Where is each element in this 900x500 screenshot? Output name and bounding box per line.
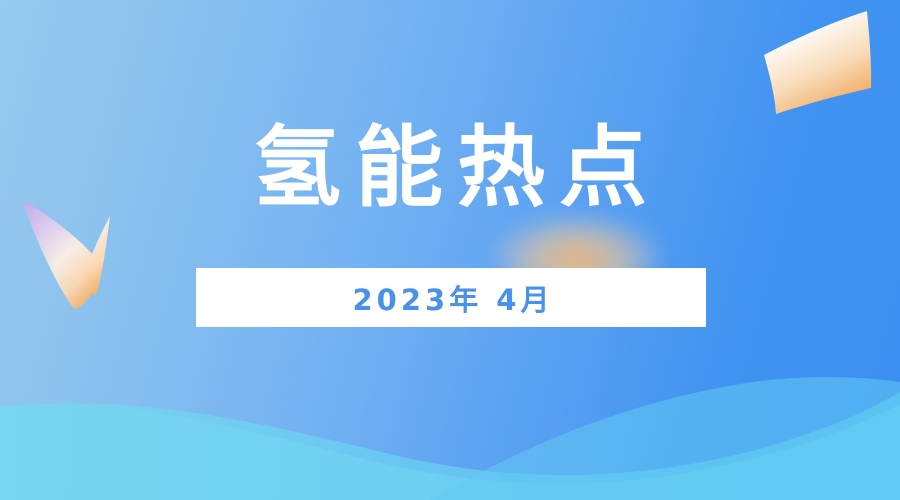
wave-front-shape xyxy=(0,404,900,500)
subtitle-date: 2023年 4月 xyxy=(349,277,554,319)
hydrogen-hotspot-banner: 氢能热点 2023年 4月 xyxy=(0,0,900,500)
subtitle-band: 2023年 4月 xyxy=(196,268,706,327)
page-title: 氢能热点 xyxy=(239,122,661,214)
petal-left-shape xyxy=(24,201,110,296)
wave-right-edge xyxy=(430,377,900,500)
title-container: 氢能热点 xyxy=(0,122,900,214)
ribbon-top-right-shape xyxy=(764,11,871,114)
wave-layer xyxy=(0,0,900,500)
petal-left-layer xyxy=(0,0,900,500)
ribbon-top-right-layer xyxy=(0,0,900,500)
wave-back-shape xyxy=(0,392,900,500)
petal-left-lower-shape xyxy=(22,200,97,309)
